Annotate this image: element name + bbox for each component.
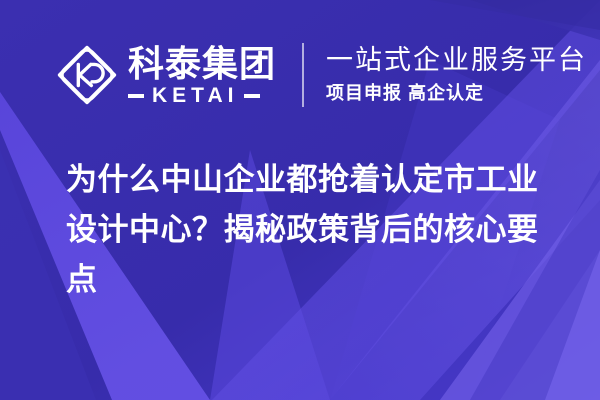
banner-header: 科泰集团 KETAI 一站式企业服务平台 项目申报 高企认定 — [56, 38, 587, 112]
tagline-sub: 项目申报 高企认定 — [326, 82, 587, 105]
tagline-main: 一站式企业服务平台 — [326, 45, 587, 77]
promo-banner: 科泰集团 KETAI 一站式企业服务平台 项目申报 高企认定 为什么中山企业都抢… — [0, 0, 600, 400]
logo-wordmark: 科泰集团 KETAI — [128, 46, 276, 107]
header-divider — [302, 43, 304, 107]
logo-name-en: KETAI — [144, 85, 244, 106]
tagline-block: 一站式企业服务平台 项目申报 高企认定 — [326, 45, 587, 105]
logo-name-cn: 科泰集团 — [128, 46, 276, 83]
logo-dash-left-icon — [128, 94, 144, 98]
brand-logo[interactable]: 科泰集团 KETAI — [56, 44, 276, 107]
page-title: 为什么中山企业都抢着认定市工业设计中心？揭秘政策背后的核心要点 — [66, 155, 566, 305]
logo-dash-right-icon — [244, 94, 260, 98]
ketai-diamond-monogram-icon — [56, 44, 118, 106]
logo-name-en-row: KETAI — [128, 85, 276, 106]
